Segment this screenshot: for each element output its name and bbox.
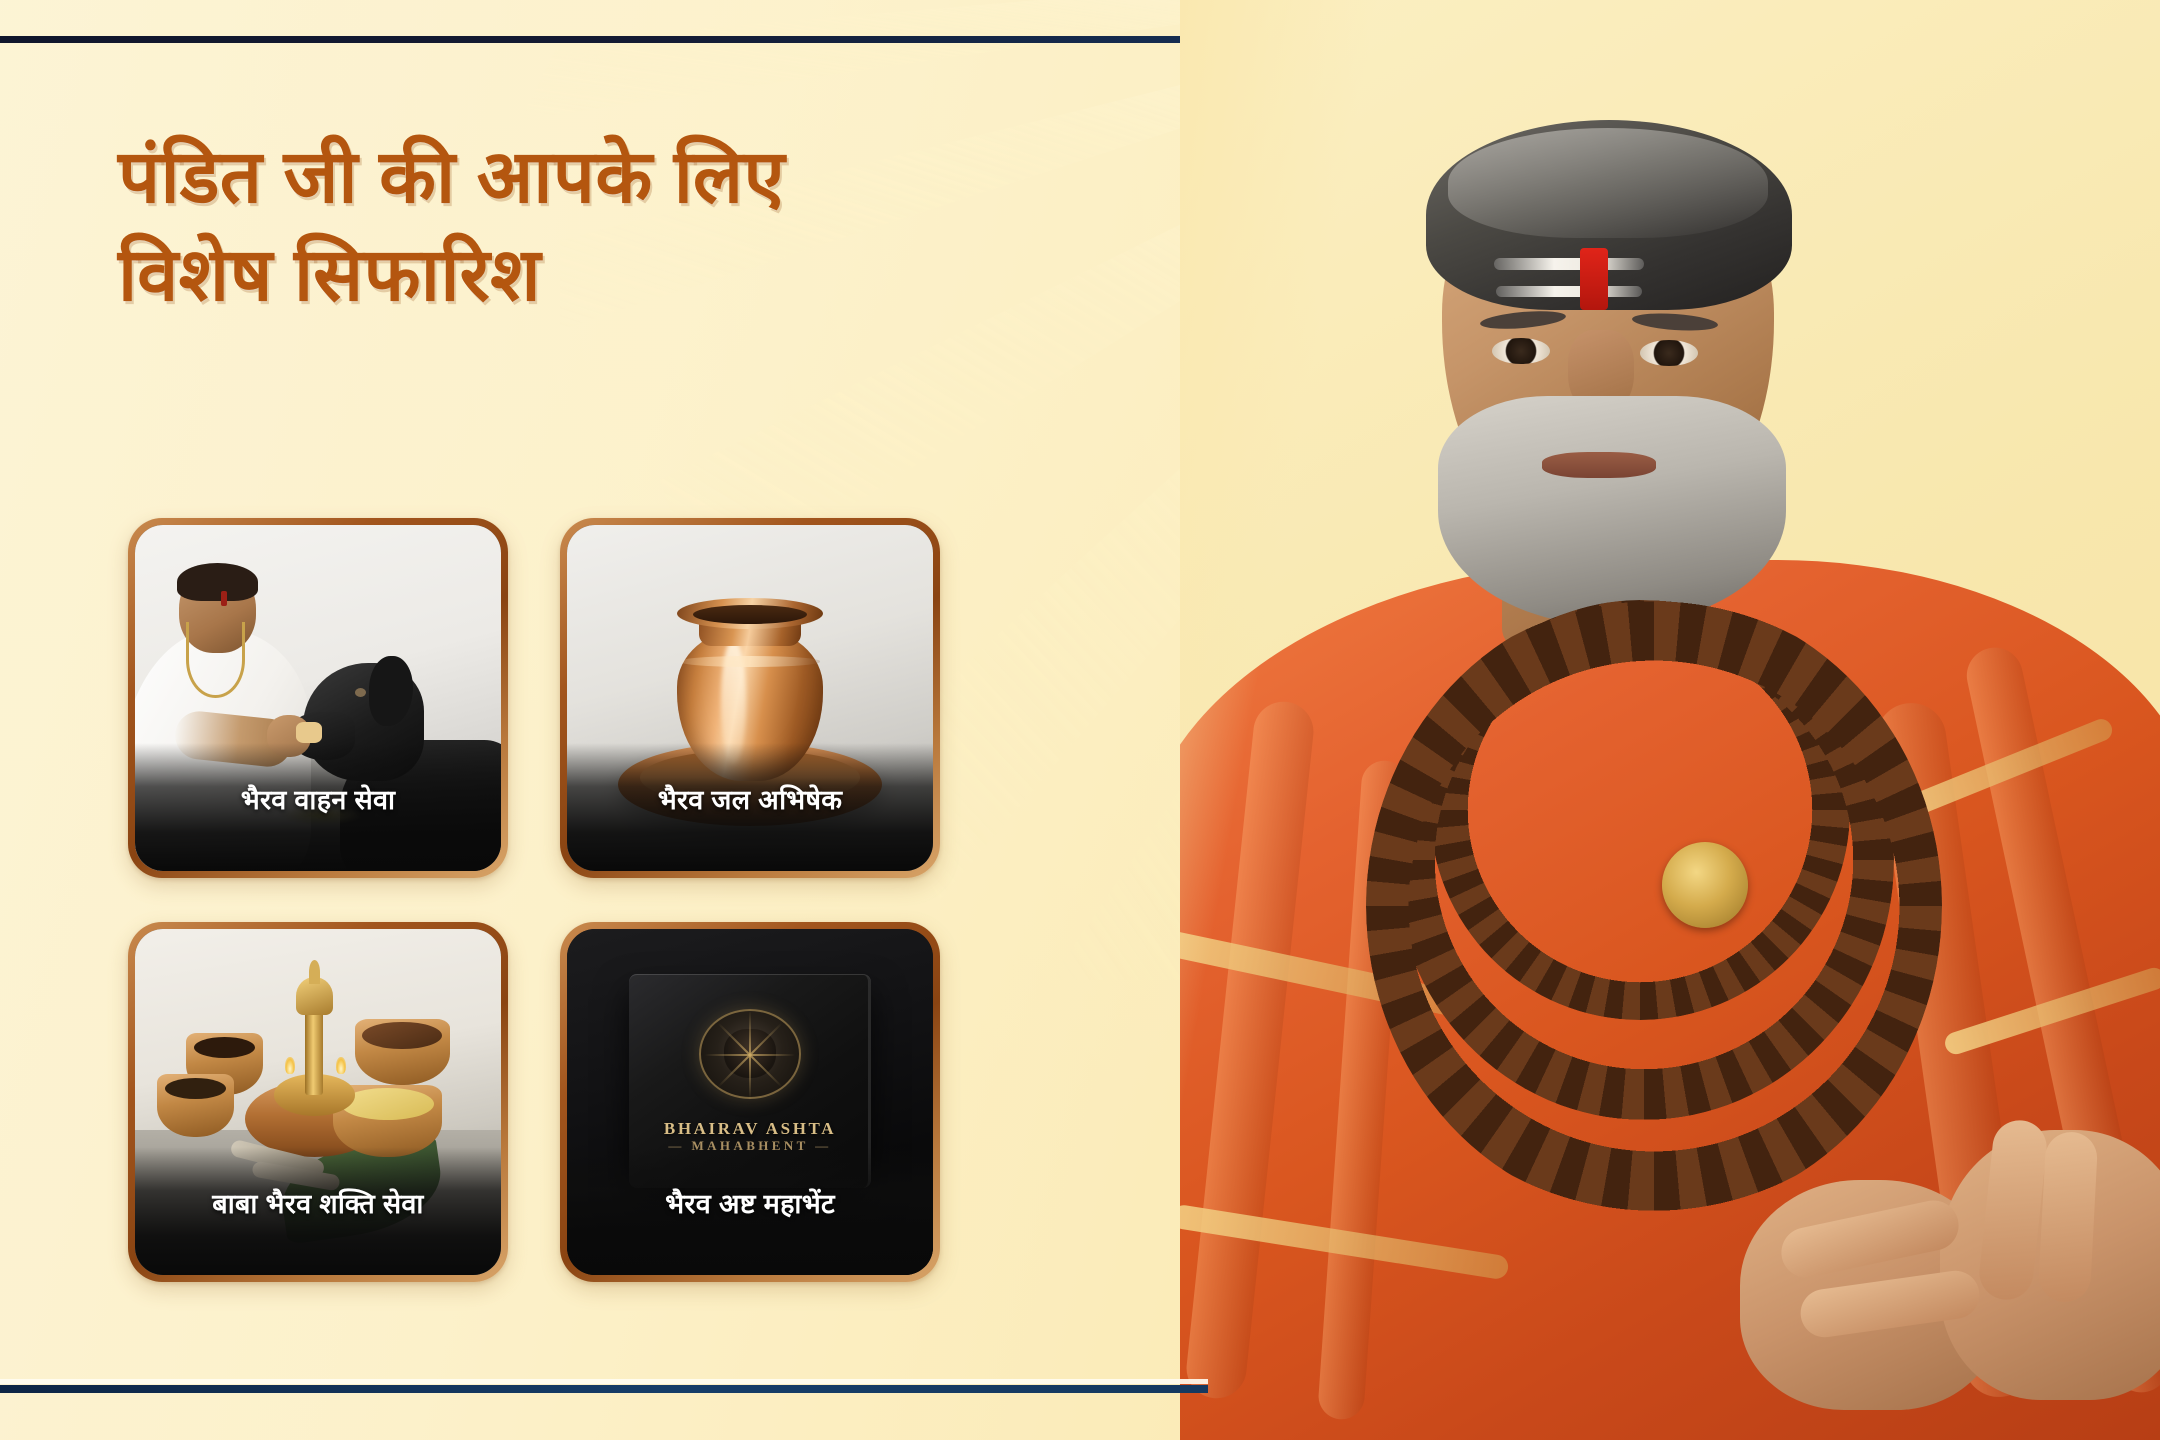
tilak-red-mark [1580,248,1608,310]
box-title: BHAIRAV ASHTA [567,1119,933,1139]
card-bhairav-jal-abhishek[interactable]: भैरव जल अभिषेक [560,518,940,878]
pandit-portrait-photo [1180,0,2160,1440]
card-inner: भैरव वाहन सेवा [135,525,501,871]
bottom-divider-highlight [0,1379,1208,1384]
card-bhairav-vahan-seva[interactable]: भैरव वाहन सेवा [128,518,508,878]
mouth [1542,452,1656,478]
card-inner: भैरव जल अभिषेक [567,525,933,871]
eye-left [1492,338,1550,364]
bottom-divider-rule [0,1385,1208,1393]
card-bhairav-asht-mahabhent[interactable]: BHAIRAV ASHTA — MAHABHENT — भैरव अष्ट मह… [560,922,940,1282]
card-caption: भैरव वाहन सेवा [135,743,501,871]
card-baba-bhairav-shakti-seva[interactable]: बाबा भैरव शक्ति सेवा [128,922,508,1282]
card-caption: बाबा भैरव शक्ति सेवा [135,1147,501,1275]
card-inner: बाबा भैरव शक्ति सेवा [135,929,501,1275]
promo-banner: पंडित जी की आपके लिए विशेष सिफारिश [0,0,2160,1440]
card-caption: भैरव जल अभिषेक [567,743,933,871]
tilak-white-stripe [1494,258,1644,270]
rudraksha-mala-3 [1366,596,1942,1216]
heading-line-1: पंडित जी की आपके लिए [118,135,785,218]
mala-pendant [1662,842,1748,928]
eye-right [1640,340,1698,366]
beard [1438,396,1786,626]
tilak-white-stripe-2 [1496,286,1642,297]
bhairav-emblem-icon [699,1009,801,1099]
card-caption: भैरव अष्ट महाभेंट [567,1147,933,1275]
card-inner: BHAIRAV ASHTA — MAHABHENT — भैरव अष्ट मह… [567,929,933,1275]
recommendation-card-grid: भैरव वाहन सेवा भैरव जल अभिषेक [128,518,940,1278]
page-title: पंडित जी की आपके लिए विशेष सिफारिश [118,128,1198,323]
heading-line-2: विशेष सिफारिश [118,226,1198,324]
